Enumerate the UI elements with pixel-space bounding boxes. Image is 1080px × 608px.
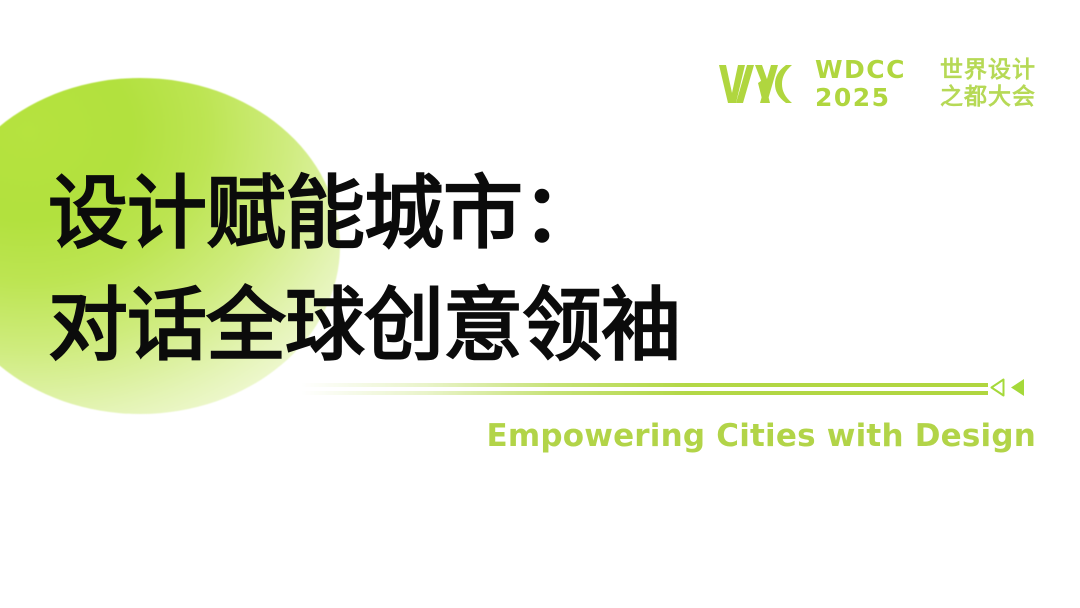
headline-line-2: 对话全球创意领袖 [48, 270, 768, 382]
gradient-divider [150, 380, 988, 398]
english-subtitle: Empowering Cities with Design [486, 418, 1036, 454]
left-triangle-outline-icon [990, 378, 1005, 397]
divider-rule-bottom [150, 391, 988, 395]
wdcc-chinese-name: 世界设计 之都大会 [940, 59, 1036, 109]
wordmark-line-2: 2025 [815, 85, 906, 110]
arrow-marks [990, 378, 1025, 397]
chinese-name-line-2: 之都大会 [940, 86, 1036, 109]
headline-line-1: 设计赋能城市： [48, 158, 768, 270]
poster-canvas: WDCC 2025 世界设计 之都大会 设计赋能城市： 对话全球创意领袖 Emp… [0, 0, 1080, 608]
wdcc-monogram-icon [719, 63, 793, 105]
wdcc-logo-lockup: WDCC 2025 世界设计 之都大会 [719, 57, 1036, 110]
wordmark-line-1: WDCC [815, 57, 906, 82]
left-triangle-solid-icon [1010, 378, 1025, 397]
headline-block: 设计赋能城市： 对话全球创意领袖 [48, 158, 768, 382]
divider-rule-top [150, 383, 988, 387]
chinese-name-line-1: 世界设计 [940, 59, 1036, 82]
wdcc-wordmark: WDCC 2025 [815, 57, 906, 110]
